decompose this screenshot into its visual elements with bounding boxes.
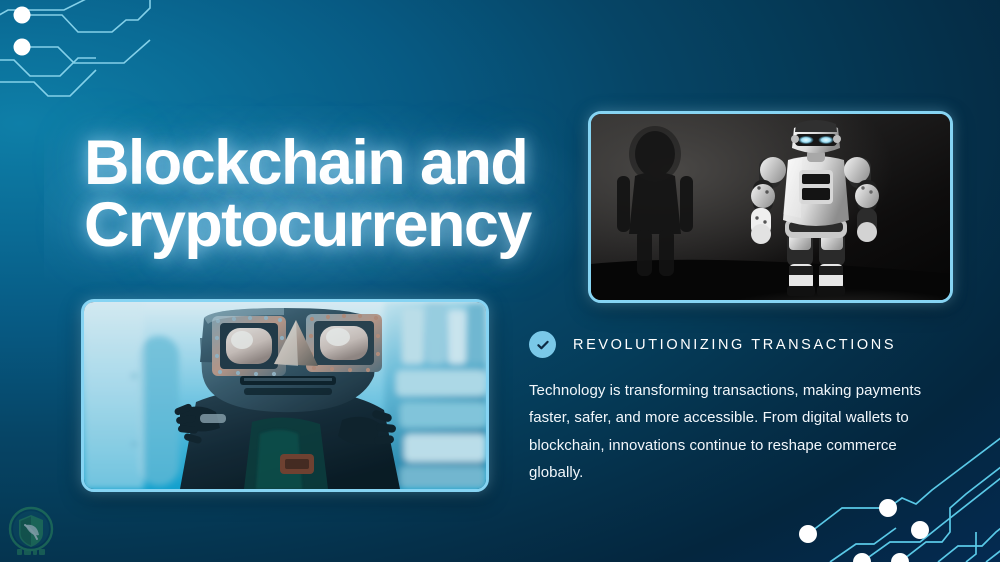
check-circle-icon xyxy=(529,331,556,358)
presentation-slide: Blockchain and Cryptocurrency xyxy=(0,0,1000,562)
humanoid-robot-photo xyxy=(591,114,950,300)
circuit-node-dot xyxy=(911,521,929,539)
circuit-node-dot xyxy=(879,499,897,517)
shield-leaf-logo-watermark xyxy=(3,503,59,559)
body-paragraph: Technology is transforming transactions,… xyxy=(529,377,941,486)
circuit-node-dot xyxy=(799,525,817,543)
section-heading-label: REVOLUTIONIZING TRANSACTIONS xyxy=(573,337,896,353)
section-heading-row: REVOLUTIONIZING TRANSACTIONS xyxy=(529,331,941,358)
circuit-node-dot xyxy=(14,7,31,24)
content-block: REVOLUTIONIZING TRANSACTIONS Technology … xyxy=(529,331,941,486)
retro-toy-robot-photo-frame xyxy=(81,299,489,492)
humanoid-robot-photo-frame xyxy=(588,111,953,303)
circuit-lines-decoration-top-left xyxy=(0,0,270,130)
circuit-node-dot xyxy=(14,39,31,56)
circuit-node-dot xyxy=(891,553,909,562)
circuit-node-dot xyxy=(853,553,871,562)
page-title-line-2: Cryptocurrency xyxy=(84,194,584,256)
retro-toy-robot-photo xyxy=(84,302,486,489)
page-title-line-1: Blockchain and xyxy=(84,132,584,194)
page-title: Blockchain and Cryptocurrency xyxy=(84,132,584,257)
title-block: Blockchain and Cryptocurrency xyxy=(84,132,584,257)
